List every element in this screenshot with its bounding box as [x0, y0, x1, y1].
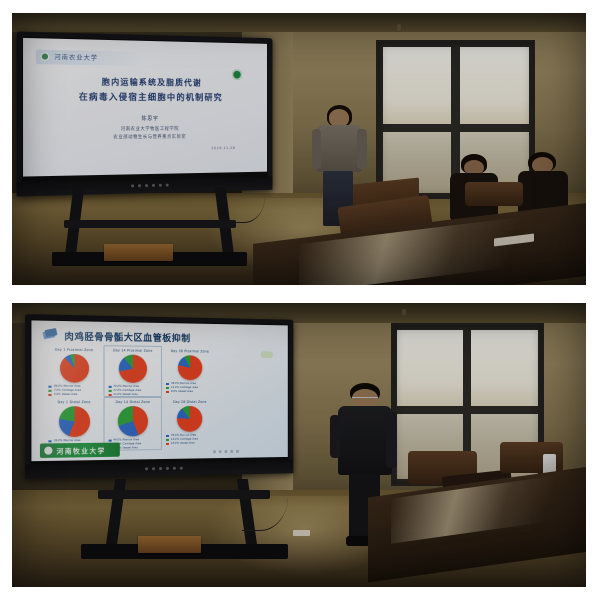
- presenter-head: [329, 109, 350, 127]
- pie-1-legend: 88.0% Marrow Area 7.0% Cartilage Area 5.…: [49, 385, 81, 396]
- presenter-arm-left: [312, 129, 322, 169]
- presenter-bottom-arm-right: [386, 412, 396, 468]
- slide-decoration-icon: [43, 329, 60, 343]
- photo-panel-top: 河南农业大学 胞内运输系统及脂质代谢 在病毒入侵宿主细胞中的机制研究 陈思宇 河…: [12, 13, 586, 285]
- slide-footer-logo: 河南牧业大学: [40, 443, 120, 458]
- presenter-torso: [316, 125, 362, 171]
- pie-chart-cell-2: Day 14 Proximal Zone 72.0% Marrow Area 1…: [105, 347, 161, 397]
- seminar-room-bottom: 肉鸡胫骨骨骺大区血管板抑制 Day 1 Proximal Zone 88.0% …: [12, 303, 586, 587]
- pie-6-graphic: [177, 406, 202, 432]
- university-seal-icon-bottom: [43, 446, 54, 456]
- pie-6-title: Day 28 Distal Zone: [173, 401, 206, 405]
- pie-1-legend-row-3: 5.0% Vessel Area: [49, 393, 81, 396]
- pie-chart-cell-6: Day 28 Distal Zone 76.0% Marrow Area 14.…: [163, 399, 217, 450]
- presenter-arm-right: [357, 129, 367, 169]
- slide-title-block: 胞内运输系统及脂质代谢 在病毒入侵宿主细胞中的机制研究: [49, 75, 249, 103]
- pie-6-legend: 76.0% Marrow Area 14.0% Cartilage Area 1…: [166, 434, 198, 445]
- ceiling-fixture-bottom: [402, 309, 406, 315]
- slide-page-markers: [213, 451, 239, 454]
- display-screen-bottom[interactable]: 肉鸡胫骨骨骺大区血管板抑制 Day 1 Proximal Zone 88.0% …: [32, 321, 288, 461]
- pie-2-outline: [104, 346, 162, 398]
- slide-pie-charts: 肉鸡胫骨骨骺大区血管板抑制 Day 1 Proximal Zone 88.0% …: [32, 321, 288, 461]
- pie-6-legend-label-3: 10.0% Vessel Area: [171, 442, 195, 445]
- slide2-corner-tag: [261, 351, 273, 358]
- cart-wooden-box-bottom: [138, 536, 201, 553]
- display-screen-top[interactable]: 河南农业大学 胞内运输系统及脂质代谢 在病毒入侵宿主细胞中的机制研究 陈思宇 河…: [23, 38, 267, 176]
- presenter-bottom-torso: [338, 406, 391, 475]
- presenter-bottom-head: [352, 389, 377, 407]
- pie-3-legend: 78.0% Marrow Area 14.0% Cartilage Area 8…: [166, 383, 198, 394]
- pie-3-legend-row-3: 8.0% Vessel Area: [166, 391, 198, 394]
- chair-back-right: [465, 182, 522, 206]
- pie-6-legend-row-3: 10.0% Vessel Area: [166, 442, 198, 445]
- pie-4-graphic: [59, 407, 90, 438]
- pie-chart-grid: Day 1 Proximal Zone 88.0% Marrow Area 7.…: [45, 346, 217, 441]
- slide-author: 陈思宇: [23, 115, 267, 122]
- floor-paper-bottom: [293, 530, 310, 536]
- slide-logo-text: 河南农业大学: [54, 52, 98, 62]
- display-control-dots-icon[interactable]: [131, 183, 169, 187]
- display-panel-bottom[interactable]: 肉鸡胫骨骨骺大区血管板抑制 Day 1 Proximal Zone 88.0% …: [25, 314, 293, 479]
- pie-1-legend-label-3: 5.0% Vessel Area: [54, 393, 78, 396]
- pie-chart-cell-3: Day 28 Proximal Zone 78.0% Marrow Area 1…: [163, 348, 217, 397]
- presenter-bottom-arm-left: [330, 415, 340, 458]
- photo-collage: 河南农业大学 胞内运输系统及脂质代谢 在病毒入侵宿主细胞中的机制研究 陈思宇 河…: [0, 0, 600, 600]
- ceiling-fixture: [397, 24, 401, 31]
- display-control-dots-icon-bottom[interactable]: [145, 467, 183, 471]
- presenter-glasses-icon: [352, 397, 377, 399]
- pie-4-title: Day 1 Distal Zone: [58, 401, 91, 405]
- cart-wooden-box: [104, 244, 173, 260]
- pie-3-graphic: [178, 356, 202, 381]
- slide-title-line-2: 在病毒入侵宿主细胞中的机制研究: [49, 90, 249, 103]
- pie-1-graphic: [60, 354, 89, 383]
- university-seal-icon: [40, 52, 50, 61]
- cart-shelf: [64, 220, 236, 228]
- slide-date: 2019.11.28: [211, 146, 235, 150]
- slide-title: 河南农业大学 胞内运输系统及脂质代谢 在病毒入侵宿主细胞中的机制研究 陈思宇 河…: [23, 38, 267, 176]
- slide-affiliation-line-2: 农业部动物生长与营养重点实验室: [23, 133, 267, 143]
- slide-title-line-1: 胞内运输系统及脂质代谢: [49, 75, 249, 88]
- slide-logo-bar: 河南农业大学: [36, 49, 143, 66]
- pie-chart-cell-1: Day 1 Proximal Zone 88.0% Marrow Area 7.…: [45, 346, 103, 397]
- seminar-room-top: 河南农业大学 胞内运输系统及脂质代谢 在病毒入侵宿主细胞中的机制研究 陈思宇 河…: [12, 13, 586, 285]
- ceiling: [12, 13, 586, 32]
- pie-3-legend-label-3: 8.0% Vessel Area: [171, 391, 193, 394]
- slide-affiliation: 河南农业大学牧医工程学院 农业部动物生长与营养重点实验室: [23, 125, 267, 142]
- pie-1-title: Day 1 Proximal Zone: [55, 348, 93, 353]
- pie-3-title: Day 28 Proximal Zone: [171, 350, 209, 354]
- display-panel-top[interactable]: 河南农业大学 胞内运输系统及脂质代谢 在病毒入侵宿主细胞中的机制研究 陈思宇 河…: [16, 31, 272, 196]
- slide-footer-logo-text: 河南牧业大学: [57, 445, 106, 456]
- slide2-title: 肉鸡胫骨骨骺大区血管板抑制: [65, 330, 191, 345]
- photo-panel-bottom: 肉鸡胫骨骨骺大区血管板抑制 Day 1 Proximal Zone 88.0% …: [12, 303, 586, 587]
